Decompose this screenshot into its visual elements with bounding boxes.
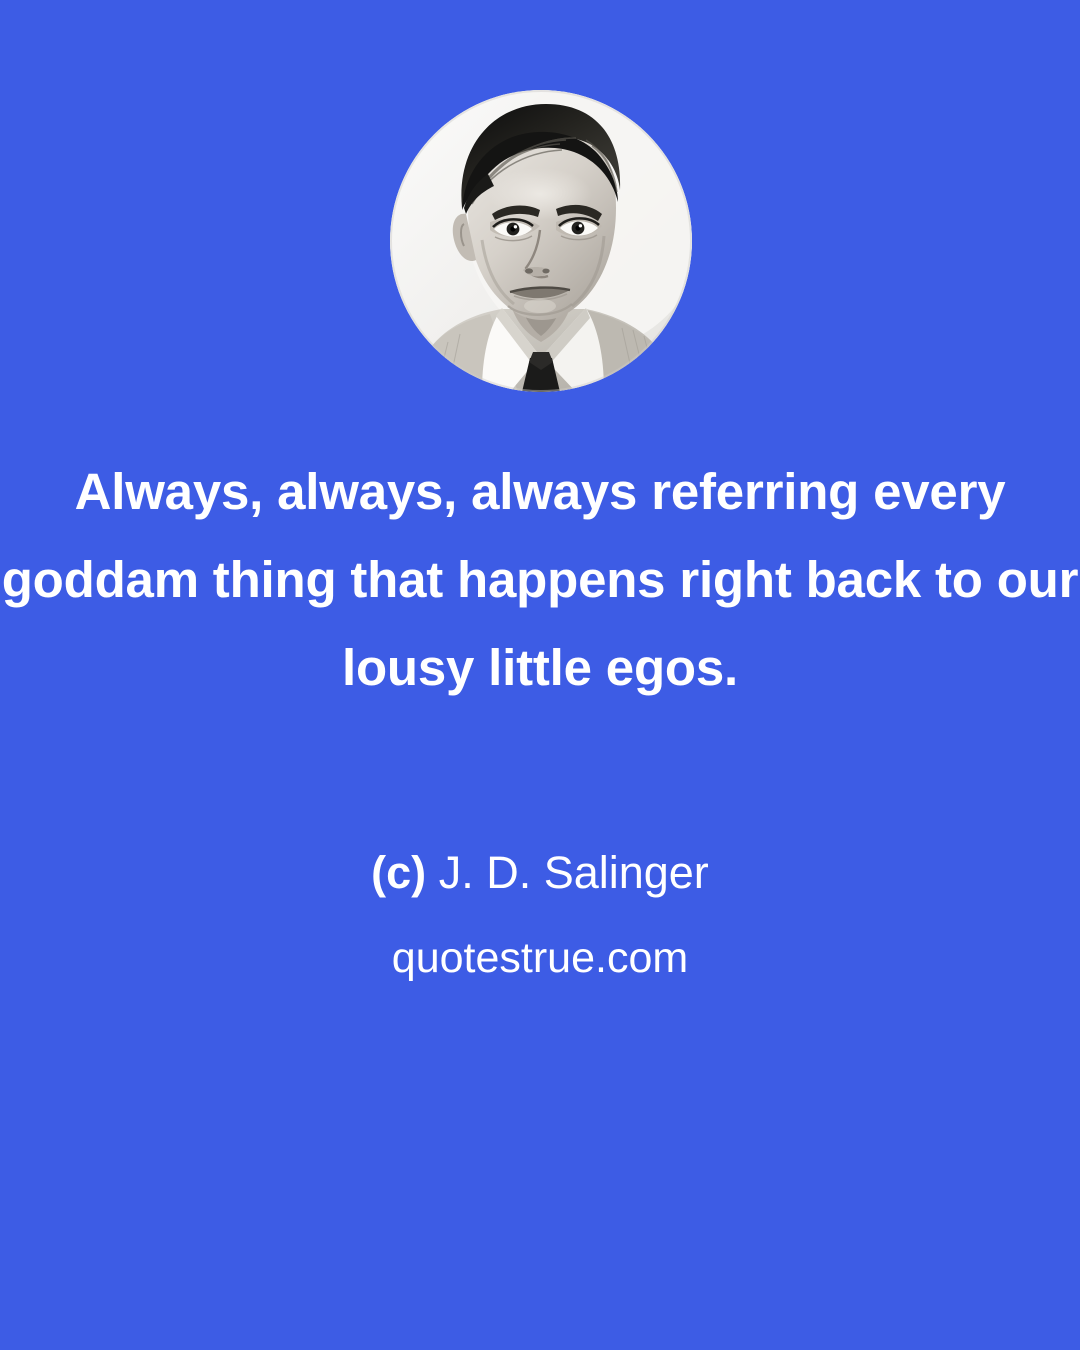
quote-text: Always, always, always referring every g… — [0, 448, 1080, 712]
author-name: J. D. Salinger — [439, 847, 709, 898]
portrait-container — [390, 90, 692, 392]
portrait-photo — [390, 90, 692, 392]
copyright-mark: (c) — [371, 847, 426, 898]
quote-card: Always, always, always referring every g… — [0, 0, 1080, 1350]
quote-attribution: (c) J. D. Salinger — [0, 845, 1080, 901]
website-label: quotestrue.com — [0, 930, 1080, 986]
